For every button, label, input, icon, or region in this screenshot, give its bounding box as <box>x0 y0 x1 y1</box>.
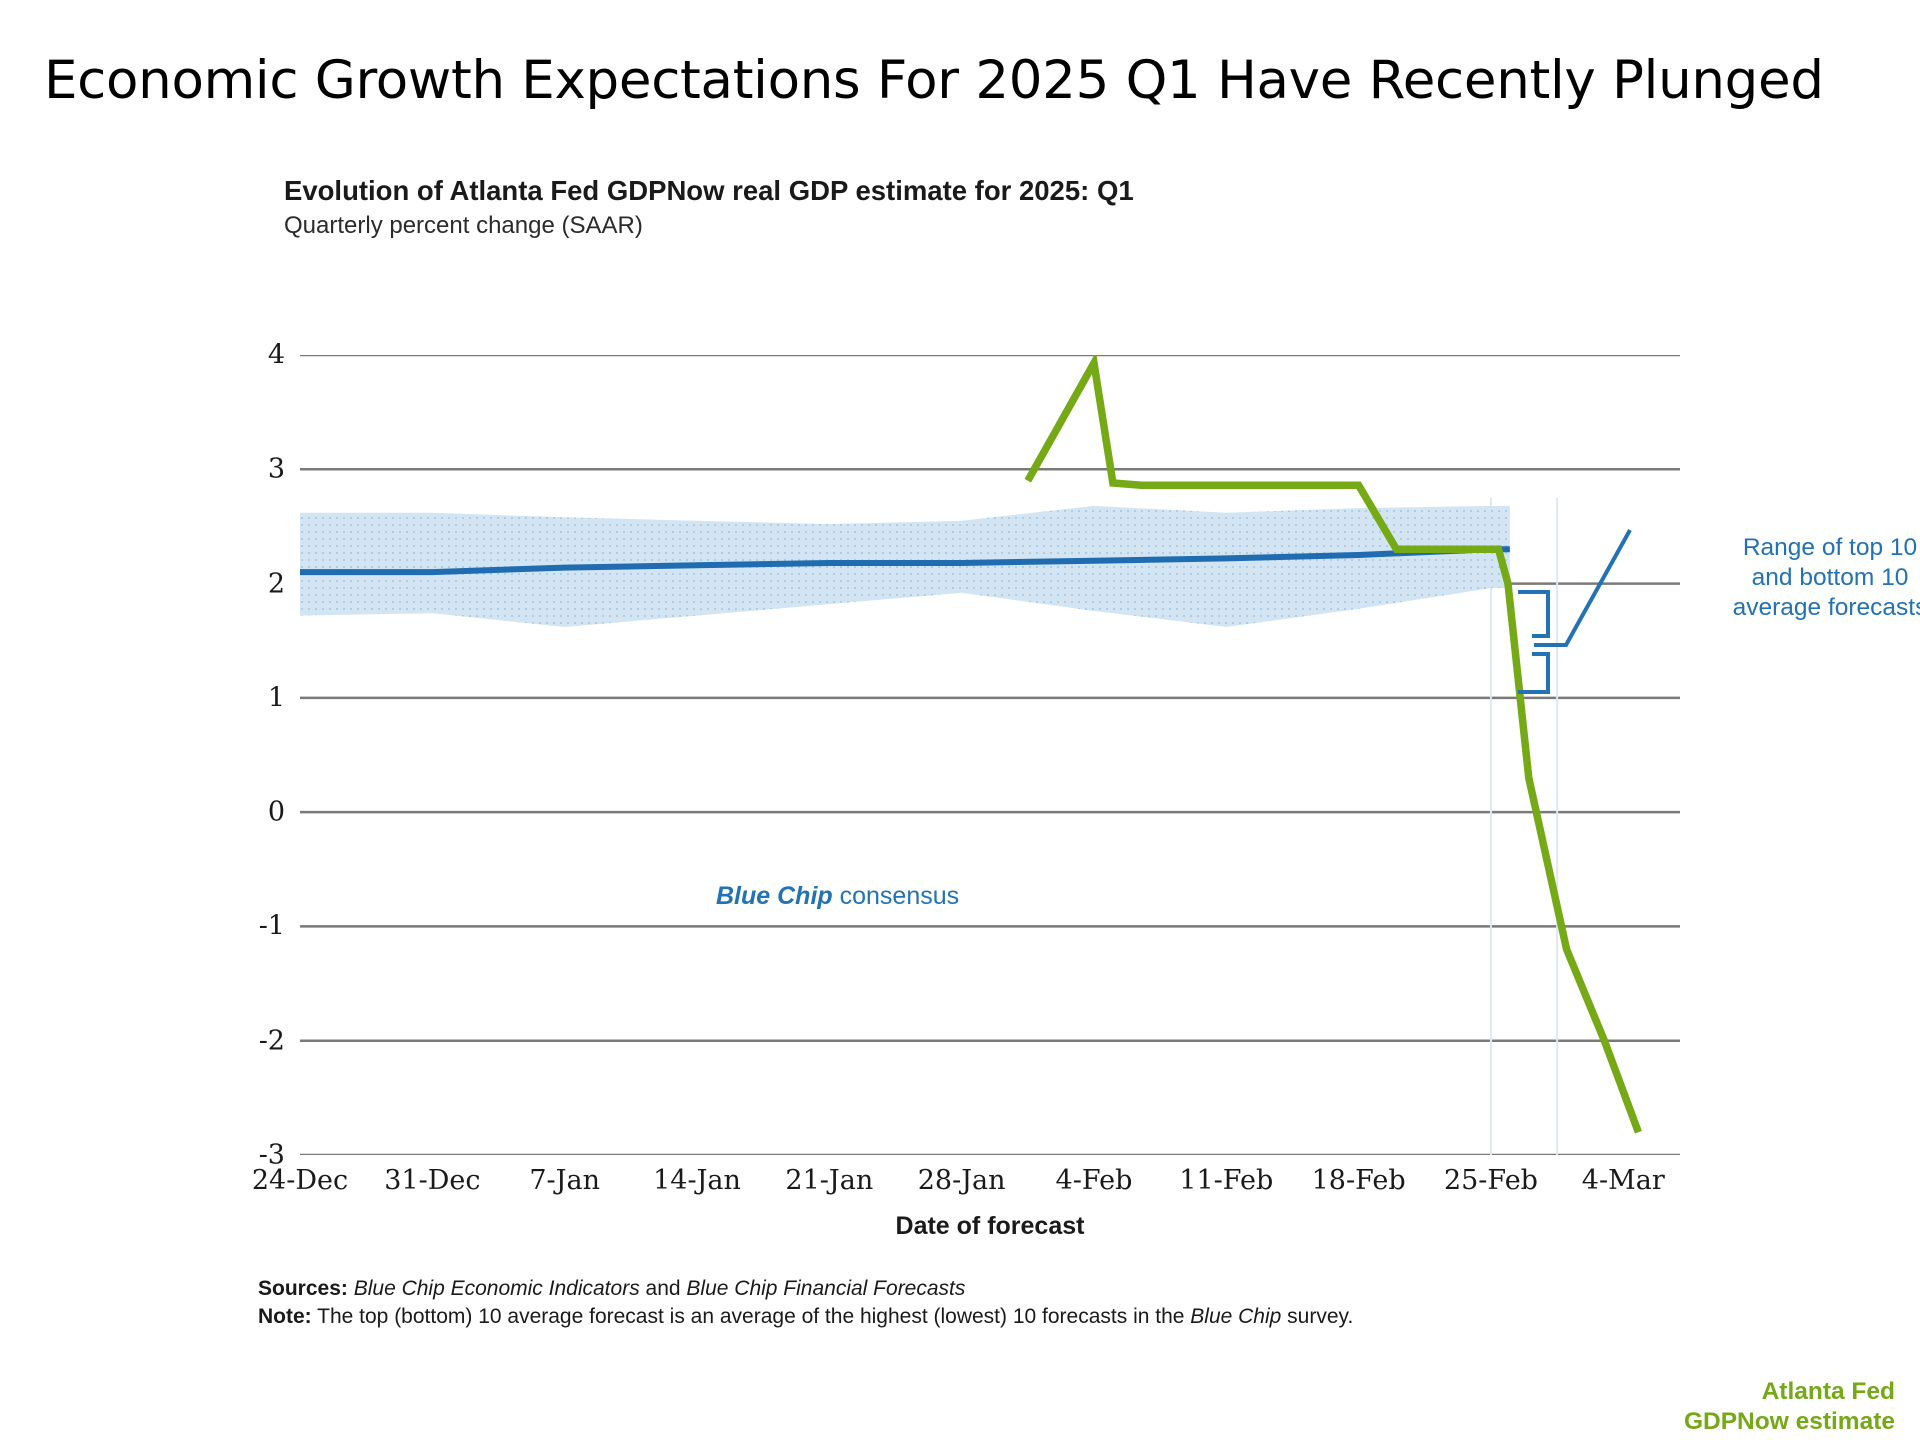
forecast-range-band <box>300 506 1510 627</box>
range-callout-leader <box>1518 530 1630 692</box>
blue-chip-callout-italic: Blue Chip <box>716 882 833 910</box>
range-callout-line1: Range of top 10 <box>1705 533 1920 563</box>
gdpnow-estimate-line <box>1028 363 1639 1132</box>
x-tick-label: 25-Feb <box>1444 1165 1538 1196</box>
range-callout-line3: average forecasts <box>1705 593 1920 623</box>
y-tick-label: 4 <box>225 340 285 371</box>
x-tick-label: 14-Jan <box>653 1165 741 1196</box>
x-tick-label: 28-Jan <box>918 1165 1006 1196</box>
x-tick-label: 11-Feb <box>1179 1165 1273 1196</box>
range-callout-line2: and bottom 10 <box>1705 563 1920 593</box>
chart-figure: Evolution of Atlanta Fed GDPNow real GDP… <box>0 150 1920 1440</box>
blue-chip-callout-plain: consensus <box>833 882 959 910</box>
sources-mid: and <box>640 1277 687 1300</box>
blue-chip-consensus-callout: Blue Chip consensus <box>716 882 959 911</box>
y-axis-tick-labels: 43210-1-2-3 <box>215 355 285 1155</box>
chart-subtitle: Quarterly percent change (SAAR) <box>284 212 643 240</box>
x-tick-label: 4-Feb <box>1056 1165 1133 1196</box>
sources-line: Sources: Blue Chip Economic Indicators a… <box>258 1275 1578 1303</box>
gdpnow-callout-line2: GDPNow estimate <box>1605 1407 1895 1437</box>
y-tick-label: 3 <box>225 454 285 485</box>
x-tick-label: 4-Mar <box>1582 1165 1665 1196</box>
chart-svg <box>300 355 1680 1155</box>
y-tick-label: 0 <box>225 797 285 828</box>
x-axis-title: Date of forecast <box>300 1212 1680 1241</box>
note-label: Note: <box>258 1305 312 1328</box>
y-tick-label: -2 <box>225 1025 285 1056</box>
plot-area: Range of top 10 and bottom 10 average fo… <box>300 355 1680 1155</box>
page-title: Economic Growth Expectations For 2025 Q1… <box>44 50 1824 111</box>
footer-notes: Sources: Blue Chip Economic Indicators a… <box>258 1275 1578 1332</box>
y-tick-label: -1 <box>225 911 285 942</box>
gdpnow-callout-line1: Atlanta Fed <box>1605 1377 1895 1407</box>
y-tick-label: 1 <box>225 682 285 713</box>
x-tick-label: 24-Dec <box>252 1165 348 1196</box>
note-line: Note: The top (bottom) 10 average foreca… <box>258 1303 1578 1331</box>
note-text-a: The top (bottom) 10 average forecast is … <box>317 1305 1190 1328</box>
note-italic: Blue Chip <box>1190 1305 1281 1328</box>
x-tick-label: 7-Jan <box>529 1165 600 1196</box>
x-tick-label: 31-Dec <box>384 1165 480 1196</box>
x-axis-tick-labels: 24-Dec31-Dec7-Jan14-Jan21-Jan28-Jan4-Feb… <box>300 1165 1680 1209</box>
range-callout: Range of top 10 and bottom 10 average fo… <box>1705 533 1920 623</box>
x-tick-label: 18-Feb <box>1312 1165 1406 1196</box>
chart-title: Evolution of Atlanta Fed GDPNow real GDP… <box>284 175 1134 207</box>
sources-a: Blue Chip Economic Indicators <box>354 1277 640 1300</box>
gridlines <box>300 355 1680 1155</box>
y-tick-label: 2 <box>225 568 285 599</box>
gdpnow-callout: Atlanta Fed GDPNow estimate <box>1605 1377 1895 1437</box>
sources-label: Sources: <box>258 1277 348 1300</box>
sources-b: Blue Chip Financial Forecasts <box>686 1277 965 1300</box>
note-text-b: survey. <box>1281 1305 1353 1328</box>
x-tick-label: 21-Jan <box>785 1165 873 1196</box>
